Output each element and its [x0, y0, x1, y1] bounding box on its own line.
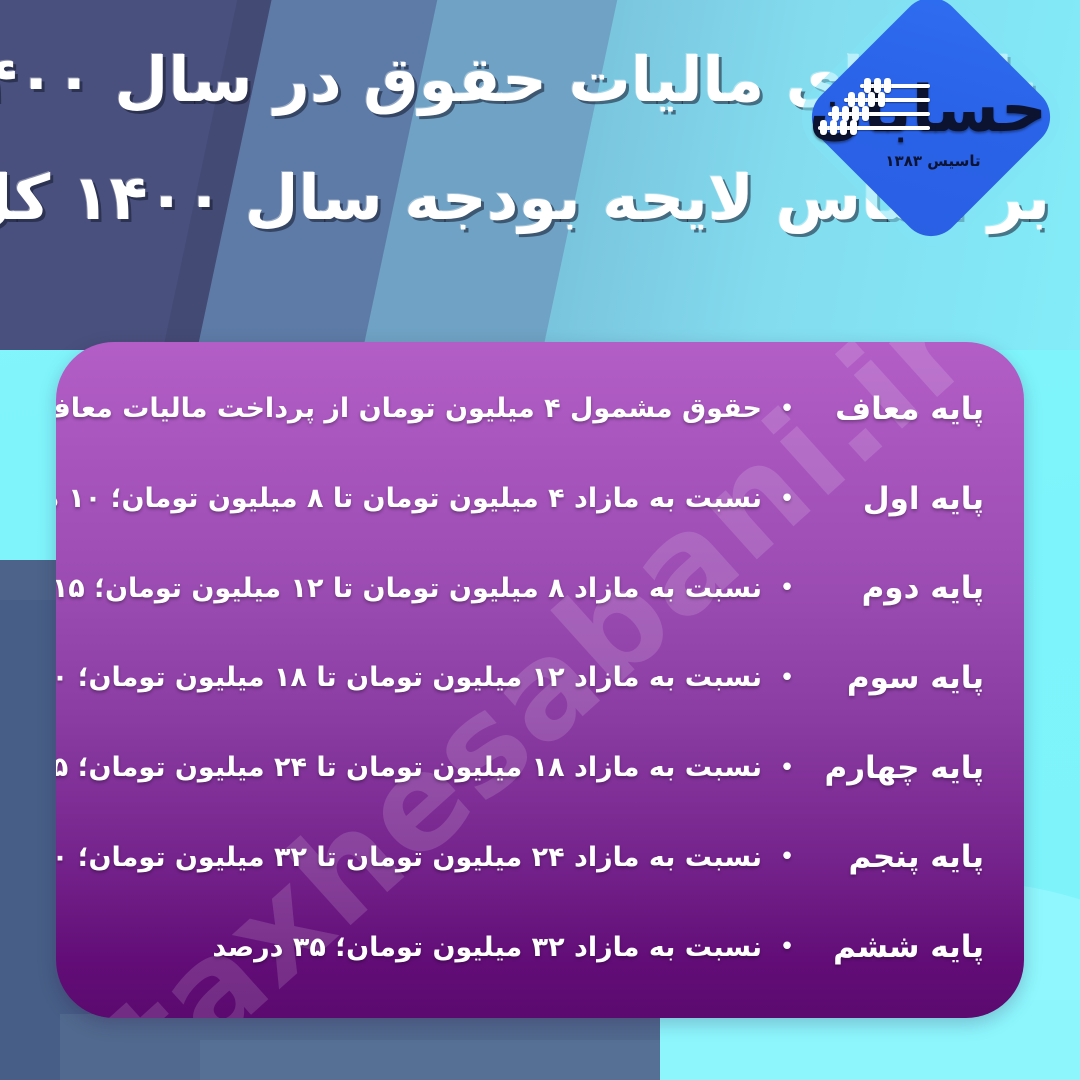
tax-bracket-label: پایه سوم [812, 660, 984, 696]
tax-bracket-description: نسبت به مازاد ۱۸ میلیون تومان تا ۲۴ میلی… [56, 752, 762, 783]
bullet-icon: • [766, 486, 808, 512]
tax-bracket-description: حقوق مشمول ۴ میلیون تومان از پرداخت مالی… [56, 393, 762, 424]
tax-bracket-row: پایه دوم•نسبت به مازاد ۸ میلیون تومان تا… [80, 570, 990, 606]
bullet-icon: • [766, 844, 808, 870]
tax-bracket-label: پایه پنجم [812, 839, 984, 875]
tax-bracket-description: نسبت به مازاد ۴ میلیون تومان تا ۸ میلیون… [56, 483, 762, 514]
tax-brackets-card: taxhesabani.ir پایه معاف•حقوق مشمول ۴ می… [56, 342, 1024, 1018]
logo-established-year: تاسیس ۱۳۸۳ [885, 152, 980, 170]
tax-bracket-description: نسبت به مازاد ۸ میلیون تومان تا ۱۲ میلیو… [56, 573, 762, 604]
tax-bracket-label: پایه معاف [812, 391, 984, 427]
tax-bracket-label: پایه دوم [812, 570, 984, 606]
tax-bracket-row: پایه پنجم•نسبت به مازاد ۲۴ میلیون تومان … [80, 839, 990, 875]
abacus-icon [818, 80, 930, 138]
bullet-icon: • [766, 396, 808, 422]
tax-bracket-row: پایه اول•نسبت به مازاد ۴ میلیون تومان تا… [80, 481, 990, 517]
tax-bracket-description: نسبت به مازاد ۱۲ میلیون تومان تا ۱۸ میلی… [56, 662, 762, 693]
tax-bracket-description: نسبت به مازاد ۳۲ میلیون تومان؛ ۳۵ درصد [86, 932, 762, 963]
bullet-icon: • [766, 755, 808, 781]
header-banner: پایه های مالیات حقوق در سال ۱۴۰۰ بر اساس… [0, 0, 1080, 350]
tax-bracket-label: پایه اول [812, 481, 984, 517]
tax-bracket-description: نسبت به مازاد ۲۴ میلیون تومان تا ۳۲ میلی… [56, 842, 762, 873]
infographic-canvas: پایه های مالیات حقوق در سال ۱۴۰۰ بر اساس… [0, 0, 1080, 1080]
bullet-icon: • [766, 934, 808, 960]
tax-bracket-row: پایه سوم•نسبت به مازاد ۱۲ میلیون تومان ت… [80, 660, 990, 696]
tax-bracket-row: پایه چهارم•نسبت به مازاد ۱۸ میلیون تومان… [80, 750, 990, 786]
logo[interactable]: حسابان تاسیس ۱۳۸۳ [804, 2, 1062, 232]
tax-bracket-row: پایه معاف•حقوق مشمول ۴ میلیون تومان از پ… [80, 391, 990, 427]
tax-bracket-label: پایه چهارم [812, 750, 984, 786]
tax-bracket-label: پایه ششم [812, 929, 984, 965]
tax-bracket-row: پایه ششم•نسبت به مازاد ۳۲ میلیون تومان؛ … [80, 929, 990, 965]
bullet-icon: • [766, 575, 808, 601]
bullet-icon: • [766, 665, 808, 691]
tax-brackets-list: پایه معاف•حقوق مشمول ۴ میلیون تومان از پ… [56, 342, 1024, 1018]
